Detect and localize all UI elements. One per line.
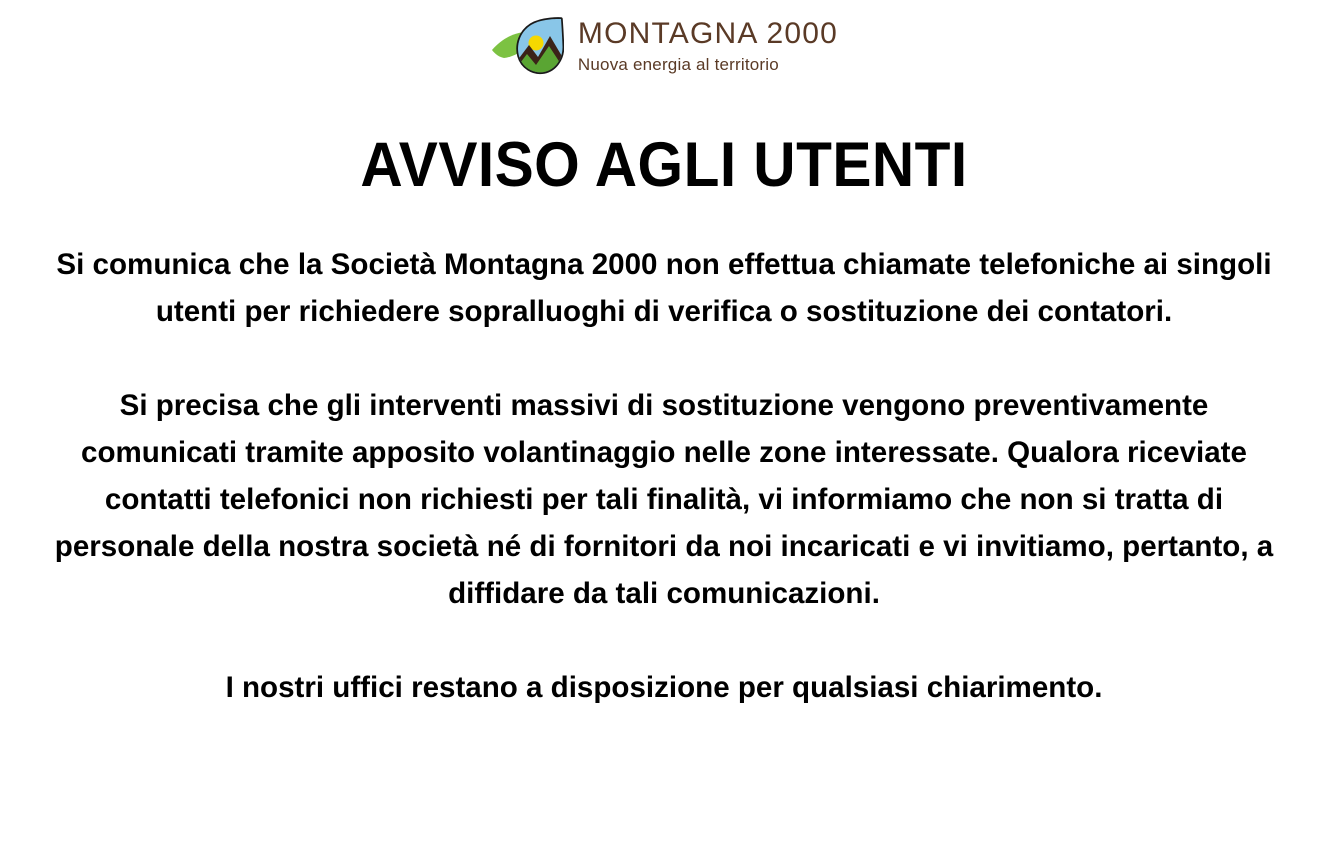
notice-paragraph-3: I nostri uffici restano a disposizione p…: [45, 617, 1282, 711]
page-title: AVVISO AGLI UTENTI: [46, 72, 1281, 197]
notice-paragraph-1: Si comunica che la Società Montagna 2000…: [45, 197, 1282, 335]
brand-tagline: Nuova energia al territorio: [578, 56, 779, 73]
brand-header: MONTAGNA 2000 Nuova energia al territori…: [0, 0, 1328, 72]
notice-page: MONTAGNA 2000 Nuova energia al territori…: [0, 0, 1328, 868]
notice-body: Si comunica che la Società Montagna 2000…: [0, 197, 1328, 711]
montagna-2000-leaf-mountain-logo-icon: [490, 17, 564, 77]
brand-wordmark: MONTAGNA 2000 Nuova energia al territori…: [578, 19, 838, 75]
brand-name: MONTAGNA 2000: [578, 19, 838, 49]
notice-paragraph-2: Si precisa che gli interventi massivi di…: [45, 335, 1282, 617]
